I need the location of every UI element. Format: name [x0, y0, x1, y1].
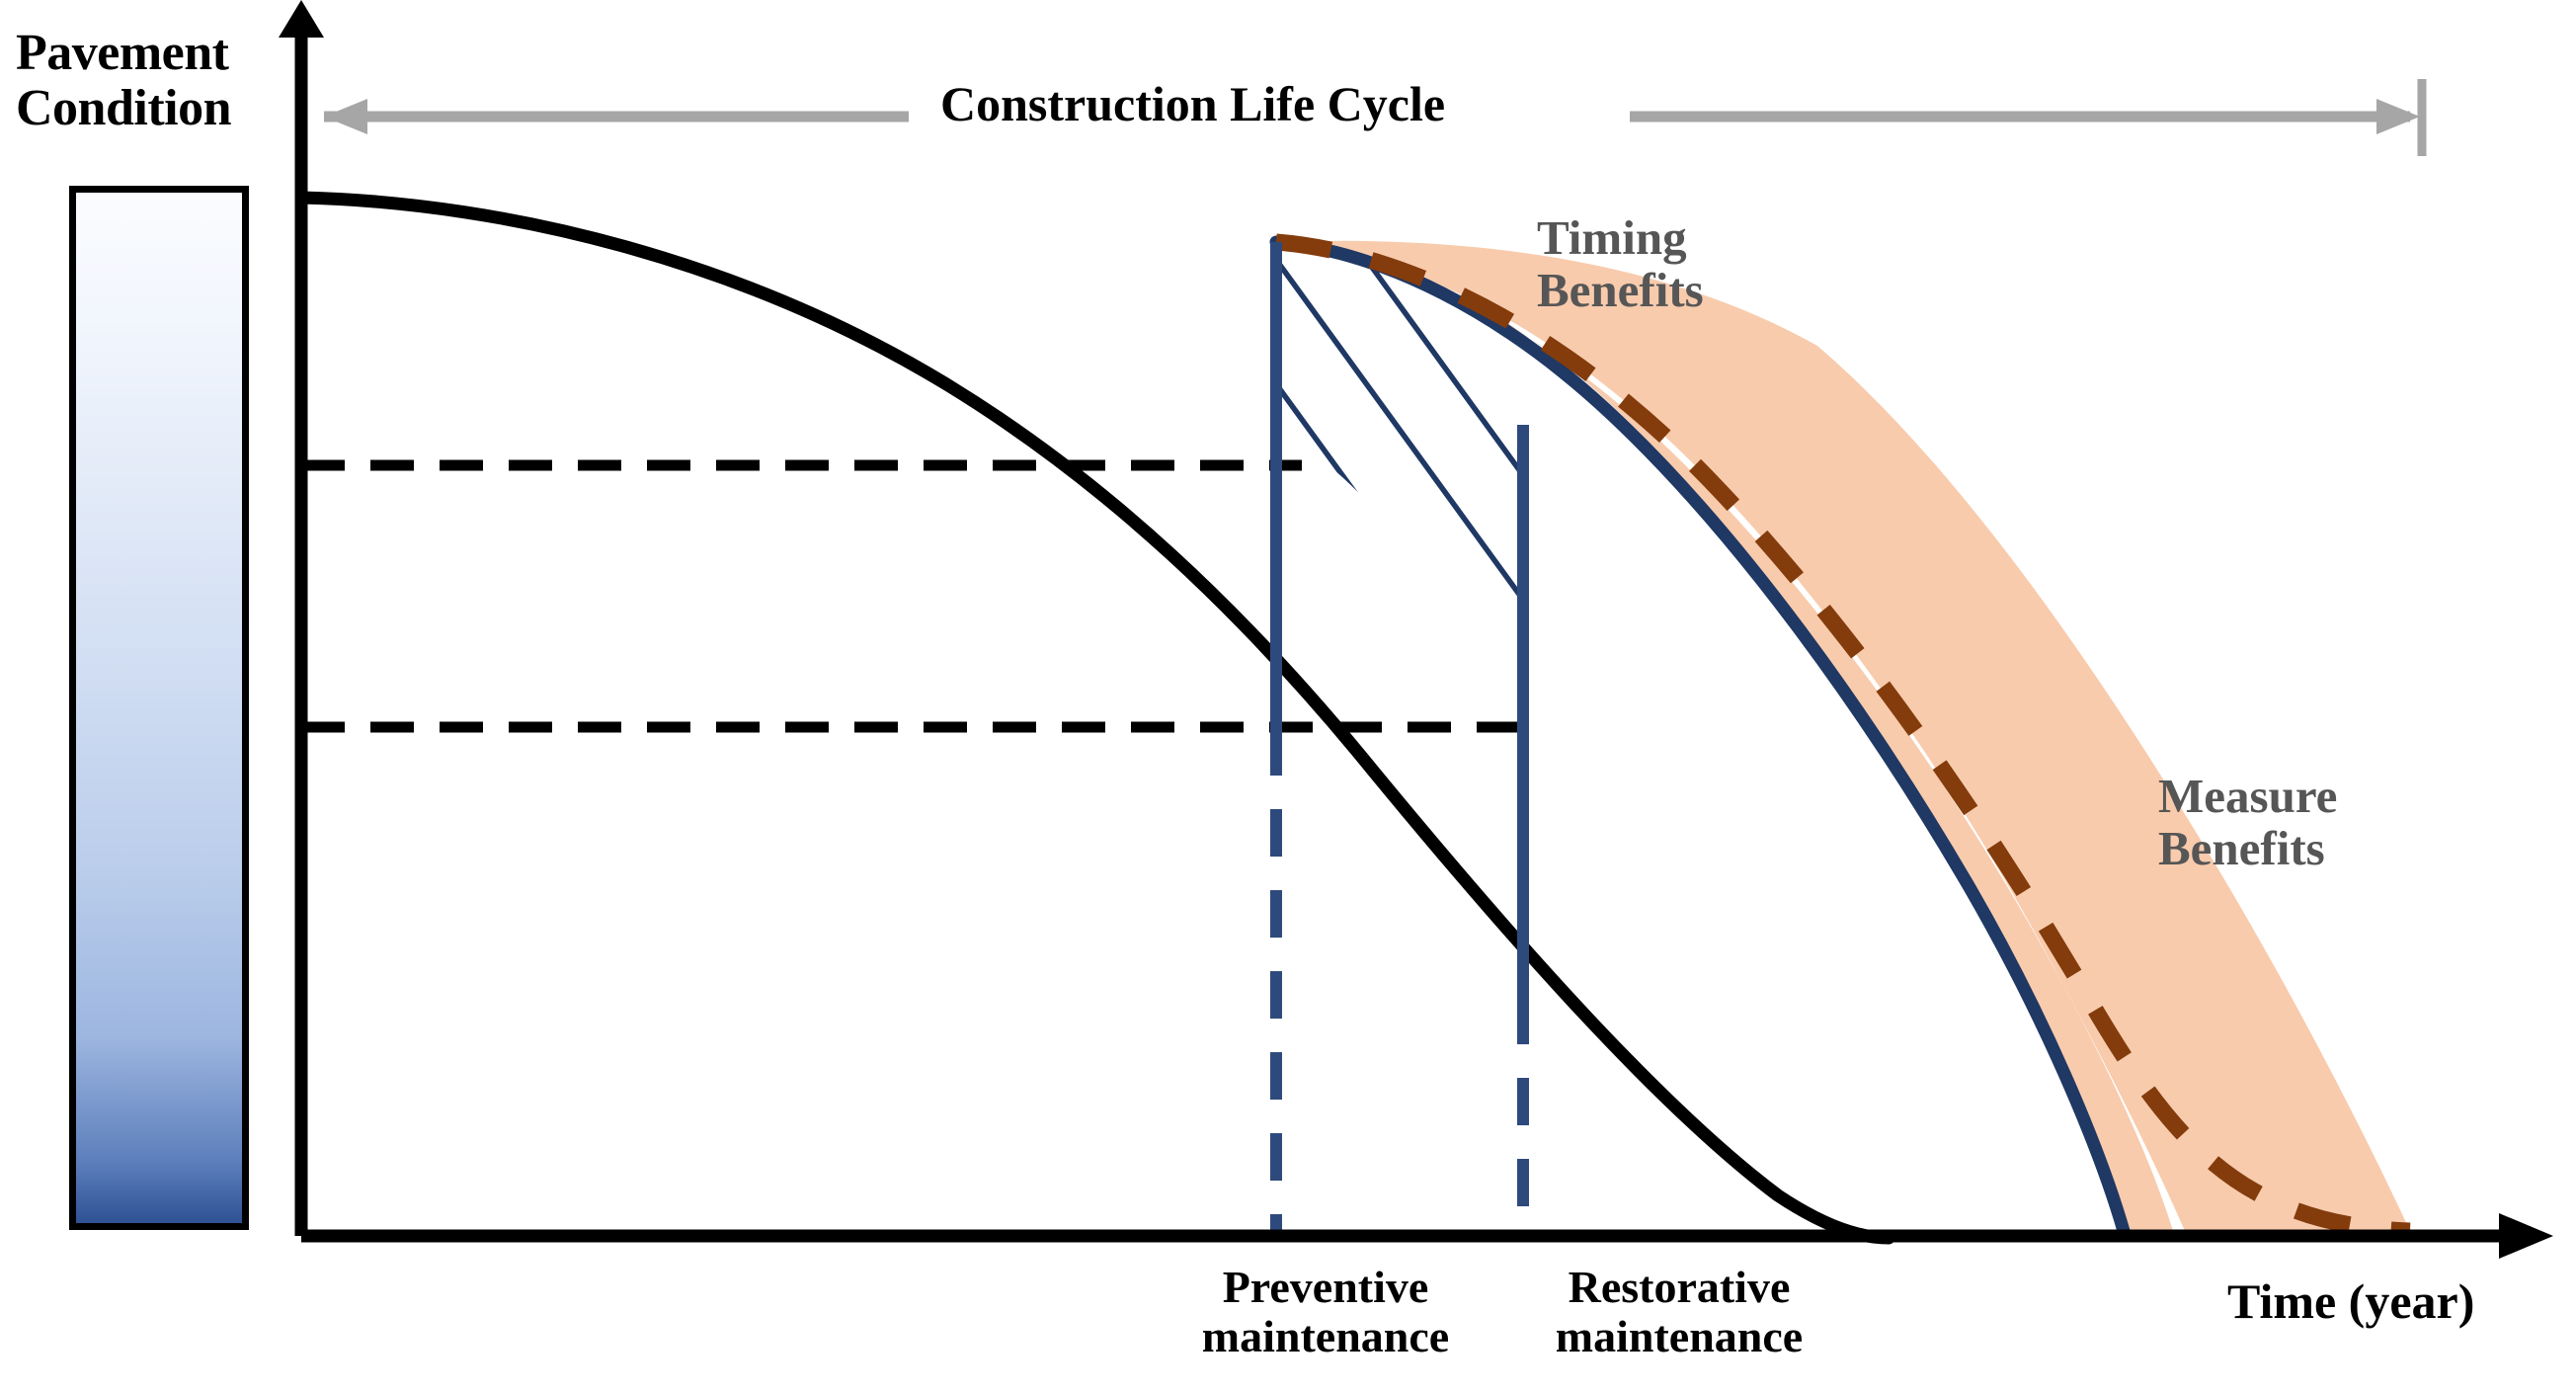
y-axis-title: Pavement Condition [16, 26, 231, 136]
restorative-maintenance-label: Restorative maintenance [1511, 1263, 1847, 1360]
preventive-maintenance-label: Preventive maintenance [1158, 1263, 1493, 1360]
measure-benefits-label: Measure Benefits [2158, 771, 2337, 875]
chart-canvas: Pavement Condition Construction Life Cyc… [0, 0, 2576, 1394]
construction-life-cycle-label: Construction Life Cycle [940, 77, 1445, 130]
x-axis-title: Time (year) [2227, 1274, 2474, 1328]
chart-vector-layer [0, 0, 2576, 1394]
timing-benefits-label: Timing Benefits [1537, 212, 1704, 317]
